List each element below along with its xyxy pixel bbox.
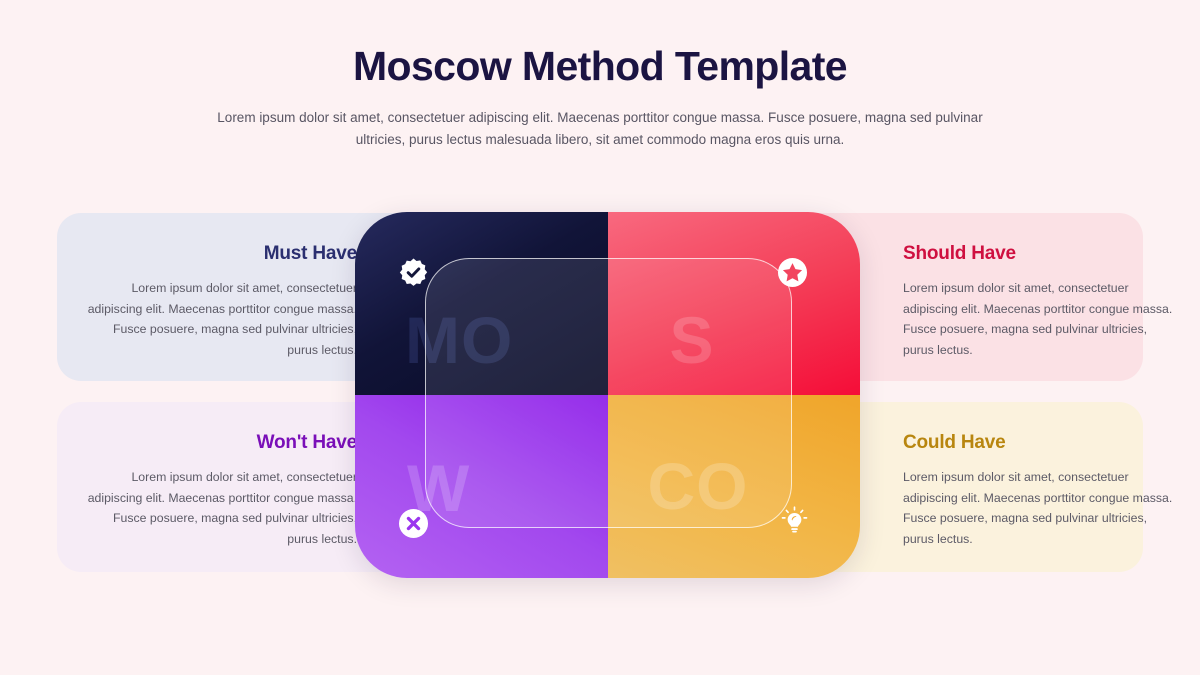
panel-wont-have-body: Lorem ipsum dolor sit amet, consectetuer…: [87, 467, 357, 550]
quadrant-should-have[interactable]: S: [608, 212, 861, 395]
quadrant-could-have[interactable]: CO: [608, 395, 861, 578]
quadrant-wont-have[interactable]: W: [355, 395, 608, 578]
quadrant-should-have-letters: S: [670, 307, 715, 373]
panel-could-have-body: Lorem ipsum dolor sit amet, consectetuer…: [903, 467, 1173, 550]
page-header: Moscow Method Template Lorem ipsum dolor…: [0, 0, 1200, 152]
panel-should-have-body: Lorem ipsum dolor sit amet, consectetuer…: [903, 278, 1173, 361]
panel-must-have-heading: Must Have: [87, 243, 357, 265]
panel-must-have-body: Lorem ipsum dolor sit amet, consectetuer…: [87, 278, 357, 361]
page-title: Moscow Method Template: [0, 44, 1200, 89]
quadrant-must-have[interactable]: MO: [355, 212, 608, 395]
lightbulb-icon: [779, 505, 810, 536]
moscow-board: Must Have Lorem ipsum dolor sit amet, co…: [0, 205, 1200, 585]
panel-could-have-heading: Could Have: [903, 432, 1173, 454]
panel-should-have-heading: Should Have: [903, 243, 1173, 265]
panel-wont-have-heading: Won't Have: [87, 432, 357, 454]
star-badge-icon: [777, 257, 808, 288]
quadrant-could-have-letters: CO: [648, 453, 749, 519]
close-circle-icon: [398, 508, 429, 539]
verified-check-icon: [398, 257, 429, 288]
page-subtitle: Lorem ipsum dolor sit amet, consectetuer…: [200, 107, 1000, 152]
quadrant-must-have-letters: MO: [405, 307, 513, 373]
